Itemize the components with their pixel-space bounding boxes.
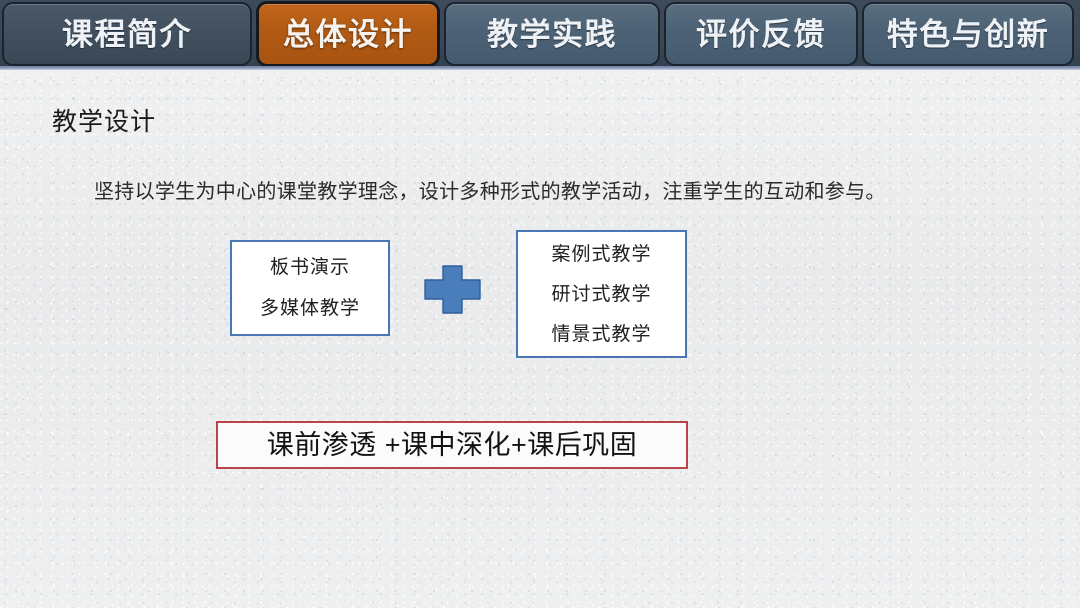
tab-overall-design[interactable]: 总体设计 bbox=[256, 1, 440, 67]
emphasis-label: 课前渗透 +课中深化+课后巩固 bbox=[267, 432, 638, 459]
emphasis-box: 课前渗透 +课中深化+课后巩固 bbox=[216, 421, 688, 469]
tab-features-innovation[interactable]: 特色与创新 bbox=[862, 2, 1074, 66]
traditional-methods-box: 板书演示 多媒体教学 bbox=[230, 240, 390, 336]
tab-label: 课程简介 bbox=[62, 19, 192, 50]
lead-paragraph: 坚持以学生为中心的课堂教学理念，设计多种形式的教学活动，注重学生的互动和参与。 bbox=[94, 180, 886, 204]
tab-label: 评价反馈 bbox=[696, 19, 826, 50]
method-item: 案例式教学 bbox=[551, 245, 651, 264]
method-item: 研讨式教学 bbox=[551, 285, 651, 304]
tab-course-intro[interactable]: 课程简介 bbox=[2, 2, 252, 66]
plus-shape-icon bbox=[424, 265, 481, 314]
page-title: 教学设计 bbox=[52, 110, 156, 135]
tab-label: 总体设计 bbox=[283, 19, 413, 50]
method-item: 情景式教学 bbox=[551, 325, 651, 344]
tab-label: 特色与创新 bbox=[887, 19, 1050, 50]
tab-teaching-practice[interactable]: 教学实践 bbox=[444, 2, 660, 66]
tab-evaluation-feedback[interactable]: 评价反馈 bbox=[664, 2, 858, 66]
tab-bar-underline bbox=[0, 66, 1080, 70]
slide-root: 课程简介 总体设计 教学实践 评价反馈 特色与创新 教学设计 坚持以学生为中心的… bbox=[0, 0, 1080, 608]
tab-label: 教学实践 bbox=[487, 19, 617, 50]
method-item: 板书演示 bbox=[270, 258, 350, 277]
modern-methods-box: 案例式教学 研讨式教学 情景式教学 bbox=[516, 230, 687, 358]
method-item: 多媒体教学 bbox=[260, 299, 360, 318]
tab-bar: 课程简介 总体设计 教学实践 评价反馈 特色与创新 bbox=[0, 0, 1080, 70]
